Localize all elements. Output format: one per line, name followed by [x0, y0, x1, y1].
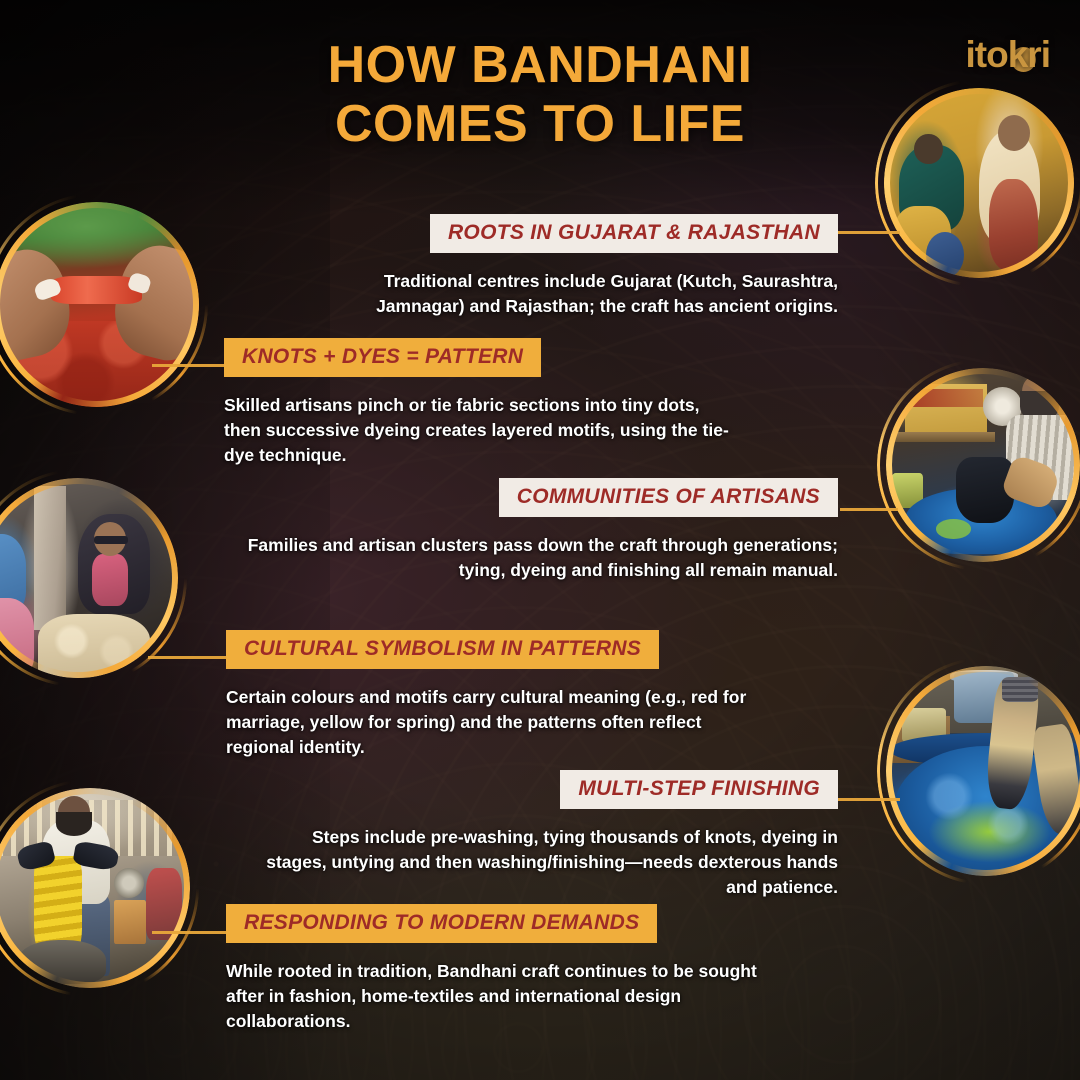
page-title: HOW BANDHANI COMES TO LIFE: [0, 36, 1080, 154]
connector-line-4: [148, 656, 232, 659]
infographic-poster: HOW BANDHANI COMES TO LIFE itokri: [0, 0, 1080, 1080]
section-body-roots: Traditional centres include Gujarat (Kut…: [238, 269, 838, 319]
connector-line-2: [152, 364, 230, 367]
section-body-cultural-symbolism: Certain colours and motifs carry cultura…: [226, 685, 846, 760]
logo-text: itokri: [966, 34, 1050, 75]
section-body-knots-dyes: Skilled artisans pinch or tie fabric sec…: [224, 393, 854, 468]
connector-line-6: [152, 931, 232, 934]
section-header-modern-demands[interactable]: RESPONDING TO MODERN DEMANDS: [226, 904, 657, 943]
section-body-multi-step-finishing: Steps include pre-washing, tying thousan…: [238, 825, 838, 900]
title-line-2: COMES TO LIFE: [0, 95, 1080, 154]
section-header-knots-dyes[interactable]: KNOTS + DYES = PATTERN: [224, 338, 541, 377]
itokri-logo[interactable]: itokri: [966, 36, 1050, 73]
section-header-cultural-symbolism[interactable]: CULTURAL SYMBOLISM IN PATTERNS: [226, 630, 659, 669]
section-multi-step-finishing: MULTI-STEP FINISHING Steps include pre-w…: [238, 770, 838, 900]
connector-line-3: [840, 508, 898, 511]
section-roots: ROOTS IN GUJARAT & RAJASTHAN Traditional…: [238, 214, 838, 319]
connector-line-5: [838, 798, 900, 801]
section-communities: COMMUNITIES OF ARTISANS Families and art…: [238, 478, 838, 583]
section-knots-dyes: KNOTS + DYES = PATTERN Skilled artisans …: [224, 338, 854, 468]
section-header-communities[interactable]: COMMUNITIES OF ARTISANS: [499, 478, 838, 517]
section-modern-demands: RESPONDING TO MODERN DEMANDS While roote…: [226, 904, 846, 1034]
section-cultural-symbolism: CULTURAL SYMBOLISM IN PATTERNS Certain c…: [226, 630, 846, 760]
connector-line-1: [838, 231, 900, 234]
photo-hands-tying-red-fabric: [0, 202, 199, 407]
photo-blue-dye-vat-closeup: [886, 666, 1080, 876]
section-body-communities: Families and artisan clusters pass down …: [238, 533, 838, 583]
section-body-modern-demands: While rooted in tradition, Bandhani craf…: [226, 959, 846, 1034]
title-line-1: HOW BANDHANI: [0, 36, 1080, 95]
section-header-roots[interactable]: ROOTS IN GUJARAT & RAJASTHAN: [430, 214, 838, 253]
section-header-multi-step-finishing[interactable]: MULTI-STEP FINISHING: [560, 770, 838, 809]
photo-man-dyeing-in-blue-tub: [886, 368, 1080, 562]
